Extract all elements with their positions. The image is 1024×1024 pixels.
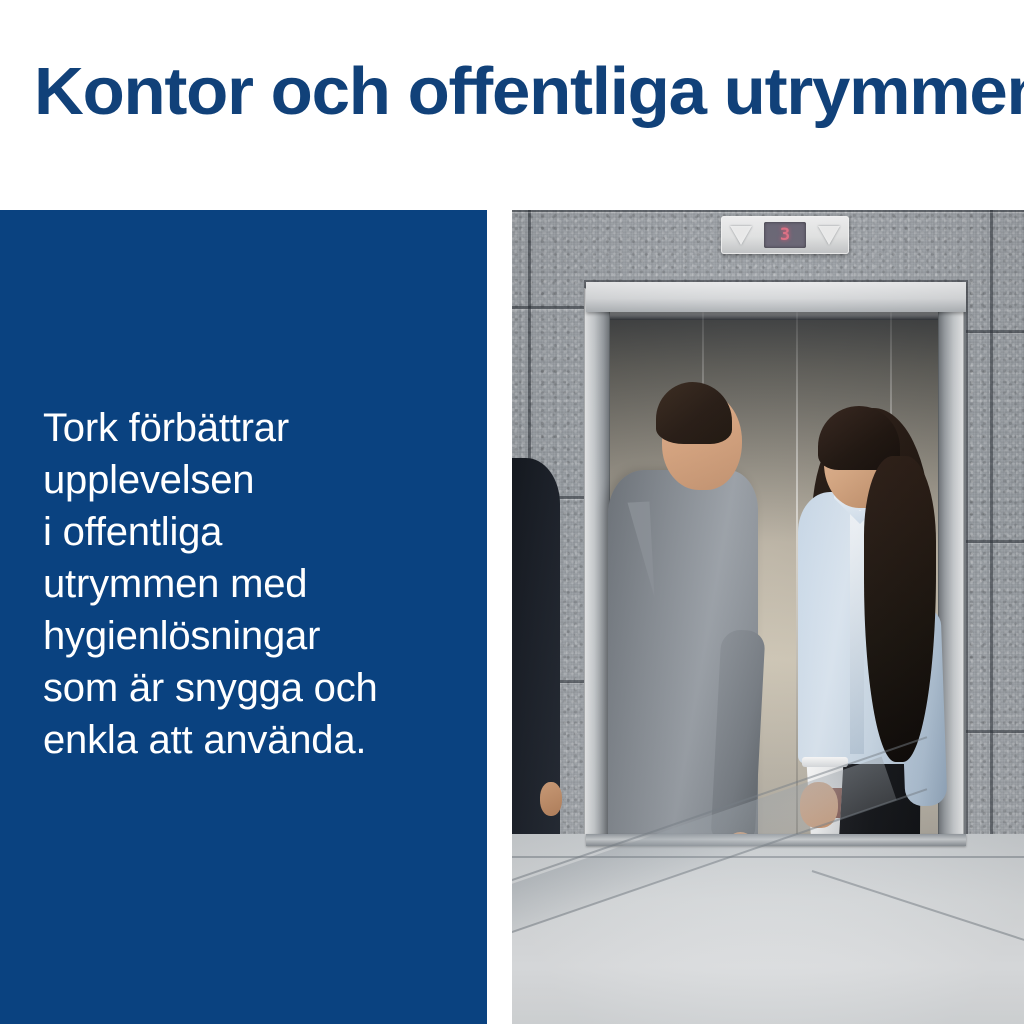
paragraph-line: som är snygga och [43,662,463,714]
floor-display: 3 [764,222,806,248]
floor-joint [812,870,1024,952]
down-arrow-icon [818,226,840,245]
wall-seam [512,306,592,309]
wall-seam [964,730,1024,733]
paragraph-line: enkla att använda. [43,714,463,766]
floor-number: 3 [780,227,790,244]
wall-seam [512,210,1024,212]
blue-text-panel: Tork förbättrar upplevelsen i offentliga… [0,210,487,1024]
floor-joint [512,856,1024,858]
lobby-floor [512,834,1024,1024]
elevator-header-band [586,282,966,312]
poster-page: Kontor och offentliga utrymmen Tork förb… [0,0,1024,1024]
passer-hand [540,782,562,816]
wall-seam [964,330,1024,333]
paragraph-line: Tork förbättrar [43,402,463,454]
woman-shirt-placket [850,510,864,754]
wall-seam [964,540,1024,543]
paragraph-line: utrymmen med [43,558,463,610]
page-title: Kontor och offentliga utrymmen [34,50,1024,134]
paragraph-line: i offentliga [43,506,463,558]
paragraph-line: hygienlösningar [43,610,463,662]
elevator-photo: 3 [512,210,1024,1024]
wall-seam [990,210,993,870]
header: Kontor och offentliga utrymmen [0,0,1024,210]
elevator-indicator-panel[interactable]: 3 [721,216,849,254]
paragraph-line: upplevelsen [43,454,463,506]
blue-panel-paragraph: Tork förbättrar upplevelsen i offentliga… [43,402,463,766]
down-arrow-icon [730,226,752,245]
